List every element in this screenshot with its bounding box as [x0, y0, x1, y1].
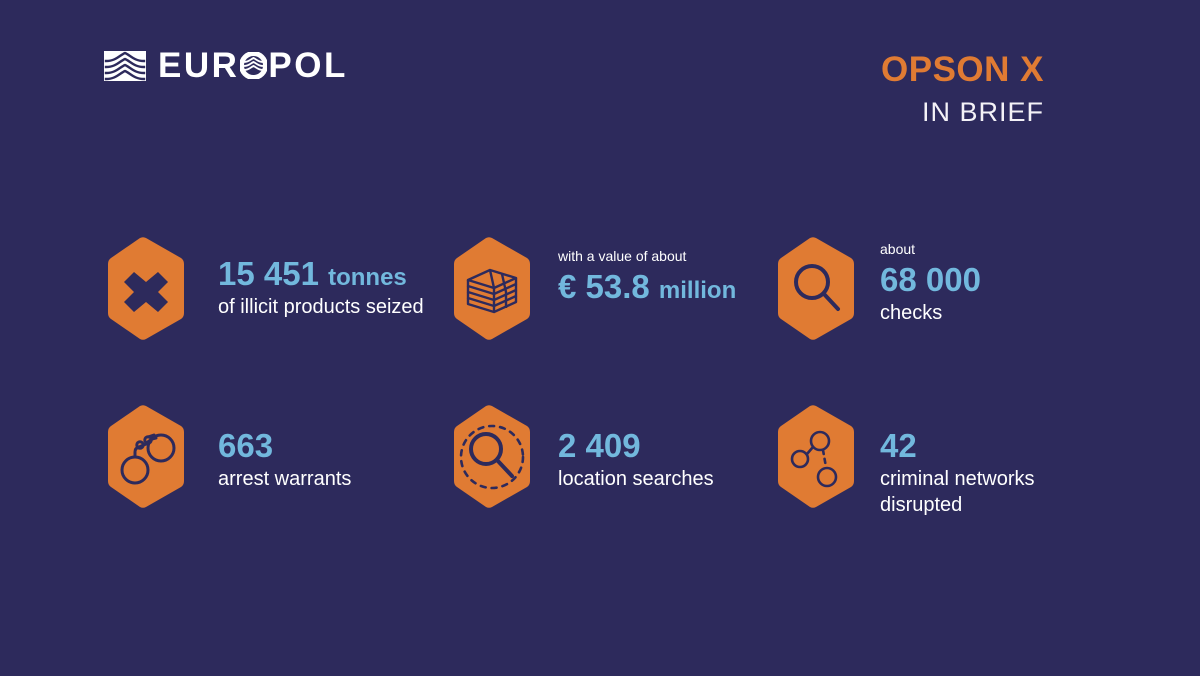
stat-item: 663 arrest warrants [104, 404, 448, 572]
stat-label: checks [880, 301, 981, 327]
stat-text: 15 451 tonnes of illicit products seized [188, 236, 424, 321]
stat-unit: tonnes [328, 264, 407, 291]
europol-wordmark-part2: POL [268, 48, 347, 83]
stat-value: 68 000 [880, 260, 981, 300]
stat-value: 2 409 [558, 426, 714, 466]
stat-value: 15 451 tonnes [218, 254, 424, 294]
stat-item: with a value of about € 53.8 million [448, 236, 774, 404]
x-cross-hexagon-icon [104, 236, 188, 341]
stat-item: 42 criminal networks disrupted [774, 404, 1104, 572]
location-search-hexagon-icon [450, 404, 534, 509]
stats-grid: 15 451 tonnes of illicit products seized [104, 236, 1104, 572]
stat-label: criminal networks disrupted [880, 467, 1104, 518]
page-title: OPSON X [881, 52, 1044, 89]
stat-number: 42 [880, 427, 917, 464]
stat-label: of illicit products seized [218, 295, 424, 321]
stat-prefix: about [880, 241, 981, 258]
infographic-page: EUR POL OPSON X IN BRIEF [0, 0, 1200, 676]
magnifier-hexagon-icon [774, 236, 858, 341]
page-subtitle: IN BRIEF [881, 98, 1044, 126]
stat-prefix: with a value of about [558, 248, 736, 265]
stat-number: 68 000 [880, 261, 981, 298]
stat-item: 15 451 tonnes of illicit products seized [104, 236, 448, 404]
stat-label: location searches [558, 467, 714, 493]
stat-number: € 53.8 [558, 268, 650, 305]
stat-item: 2 409 location searches [448, 404, 774, 572]
stat-text: about 68 000 checks [858, 236, 981, 327]
europol-wordmark-part1: EUR [158, 48, 239, 83]
stat-text: with a value of about € 53.8 million [534, 236, 736, 307]
stat-text: 663 arrest warrants [188, 404, 351, 493]
banknote-stack-hexagon-icon [450, 236, 534, 341]
title-block: OPSON X IN BRIEF [881, 52, 1044, 126]
stat-label: arrest warrants [218, 467, 351, 493]
europol-wave-icon [104, 51, 146, 81]
europol-wordmark: EUR POL [158, 48, 348, 83]
stat-value: 663 [218, 426, 351, 466]
handcuffs-hexagon-icon [104, 404, 188, 509]
stat-unit: million [659, 277, 736, 304]
stat-item: about 68 000 checks [774, 236, 1104, 404]
stat-text: 2 409 location searches [534, 404, 714, 493]
criminal-network-hexagon-icon [774, 404, 858, 509]
europol-logo: EUR POL [104, 48, 348, 83]
stat-number: 2 409 [558, 427, 641, 464]
stat-value: 42 [880, 426, 1104, 466]
stat-number: 663 [218, 427, 273, 464]
stat-value: € 53.8 million [558, 267, 736, 307]
stat-text: 42 criminal networks disrupted [858, 404, 1104, 518]
stat-number: 15 451 [218, 255, 319, 292]
europol-globe-o-icon [240, 52, 267, 79]
